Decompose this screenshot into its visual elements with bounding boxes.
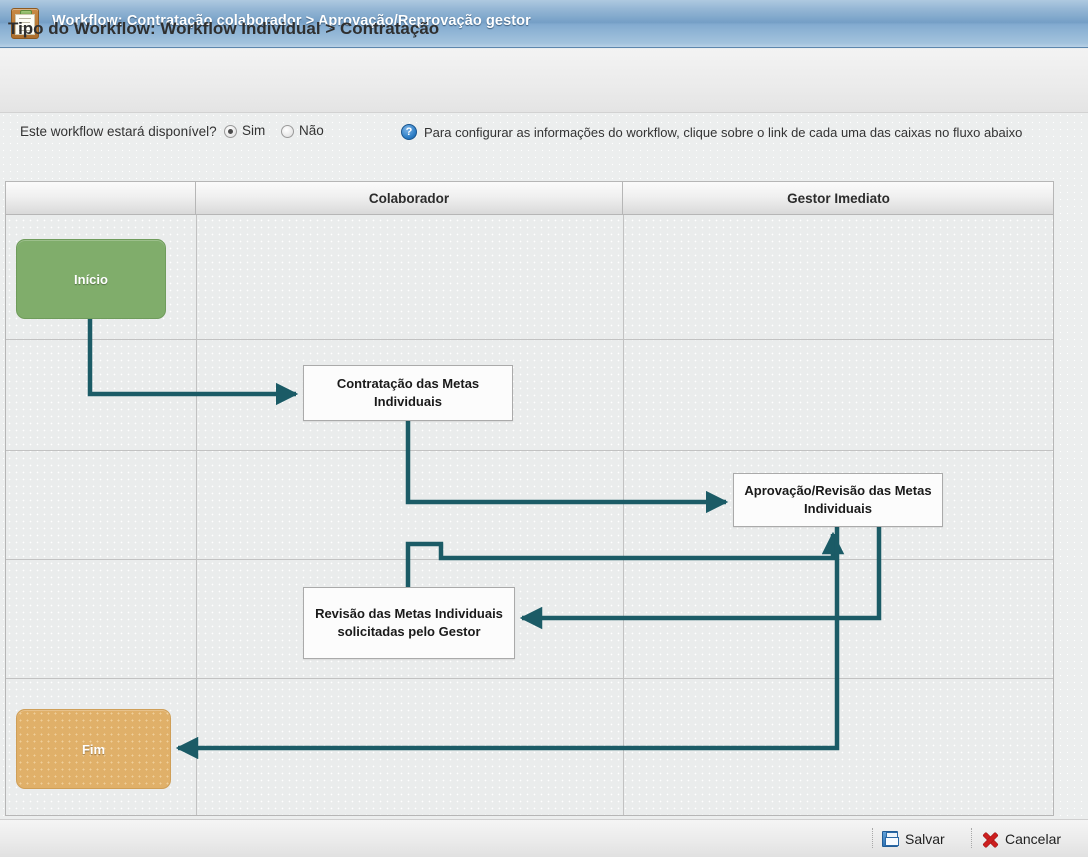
save-button[interactable]: Salvar: [882, 828, 945, 850]
workflow-configuration-page: Workflow: Contratação colaborador > Apro…: [0, 0, 1088, 857]
radio-availability-no[interactable]: [281, 125, 294, 138]
row-divider: [6, 678, 1053, 679]
connector-inicio-to-contratacao: [90, 319, 296, 394]
node-revisao-das-metas-individuais-solicitadas-pelo-gestor[interactable]: Revisão das Metas Individuais solicitada…: [303, 587, 515, 659]
column-header-colaborador: Colaborador: [196, 182, 623, 215]
node-fim[interactable]: Fim: [16, 709, 171, 789]
subtitle-bar: [0, 49, 1088, 113]
help-instruction-text: Para configurar as informações do workfl…: [424, 125, 1022, 140]
node-inicio[interactable]: Início: [16, 239, 166, 319]
row-divider: [6, 559, 1053, 560]
connector-contratacao-to-aprovacao: [408, 421, 726, 502]
column-header-blank: [6, 182, 196, 215]
radio-availability-yes-label[interactable]: Sim: [242, 123, 265, 138]
question-mark-icon: ?: [401, 124, 417, 140]
node-aprovacao-revisao-das-metas-individuais[interactable]: Aprovação/Revisão das Metas Individuais: [733, 473, 943, 527]
toolbar-divider: [872, 828, 873, 848]
options-row: [0, 114, 1088, 174]
save-button-label: Salvar: [905, 831, 945, 847]
page-title: Tipo do Workflow: Workflow Individual > …: [8, 19, 439, 39]
cancel-button-label: Cancelar: [1005, 831, 1061, 847]
row-divider: [6, 450, 1053, 451]
radio-availability-no-label[interactable]: Não: [299, 123, 324, 138]
cancel-button[interactable]: Cancelar: [982, 828, 1061, 850]
toolbar-divider: [971, 828, 972, 848]
column-divider: [623, 215, 624, 815]
column-divider: [196, 215, 197, 815]
row-divider: [6, 339, 1053, 340]
node-contratacao-das-metas-individuais[interactable]: Contratação das Metas Individuais: [303, 365, 513, 421]
workflow-swimlane-table: Colaborador Gestor Imediato: [5, 181, 1054, 816]
floppy-disk-save-icon: [882, 831, 898, 847]
availability-label: Este workflow estará disponível?: [20, 124, 217, 139]
table-header-row: Colaborador Gestor Imediato: [6, 182, 1053, 215]
close-icon: [982, 831, 998, 847]
connector-revisao-to-aprovacao: [408, 534, 833, 587]
column-header-gestor-imediato: Gestor Imediato: [623, 182, 1054, 215]
connector-aprovacao-to-revisao: [522, 527, 879, 618]
radio-availability-yes[interactable]: [224, 125, 237, 138]
